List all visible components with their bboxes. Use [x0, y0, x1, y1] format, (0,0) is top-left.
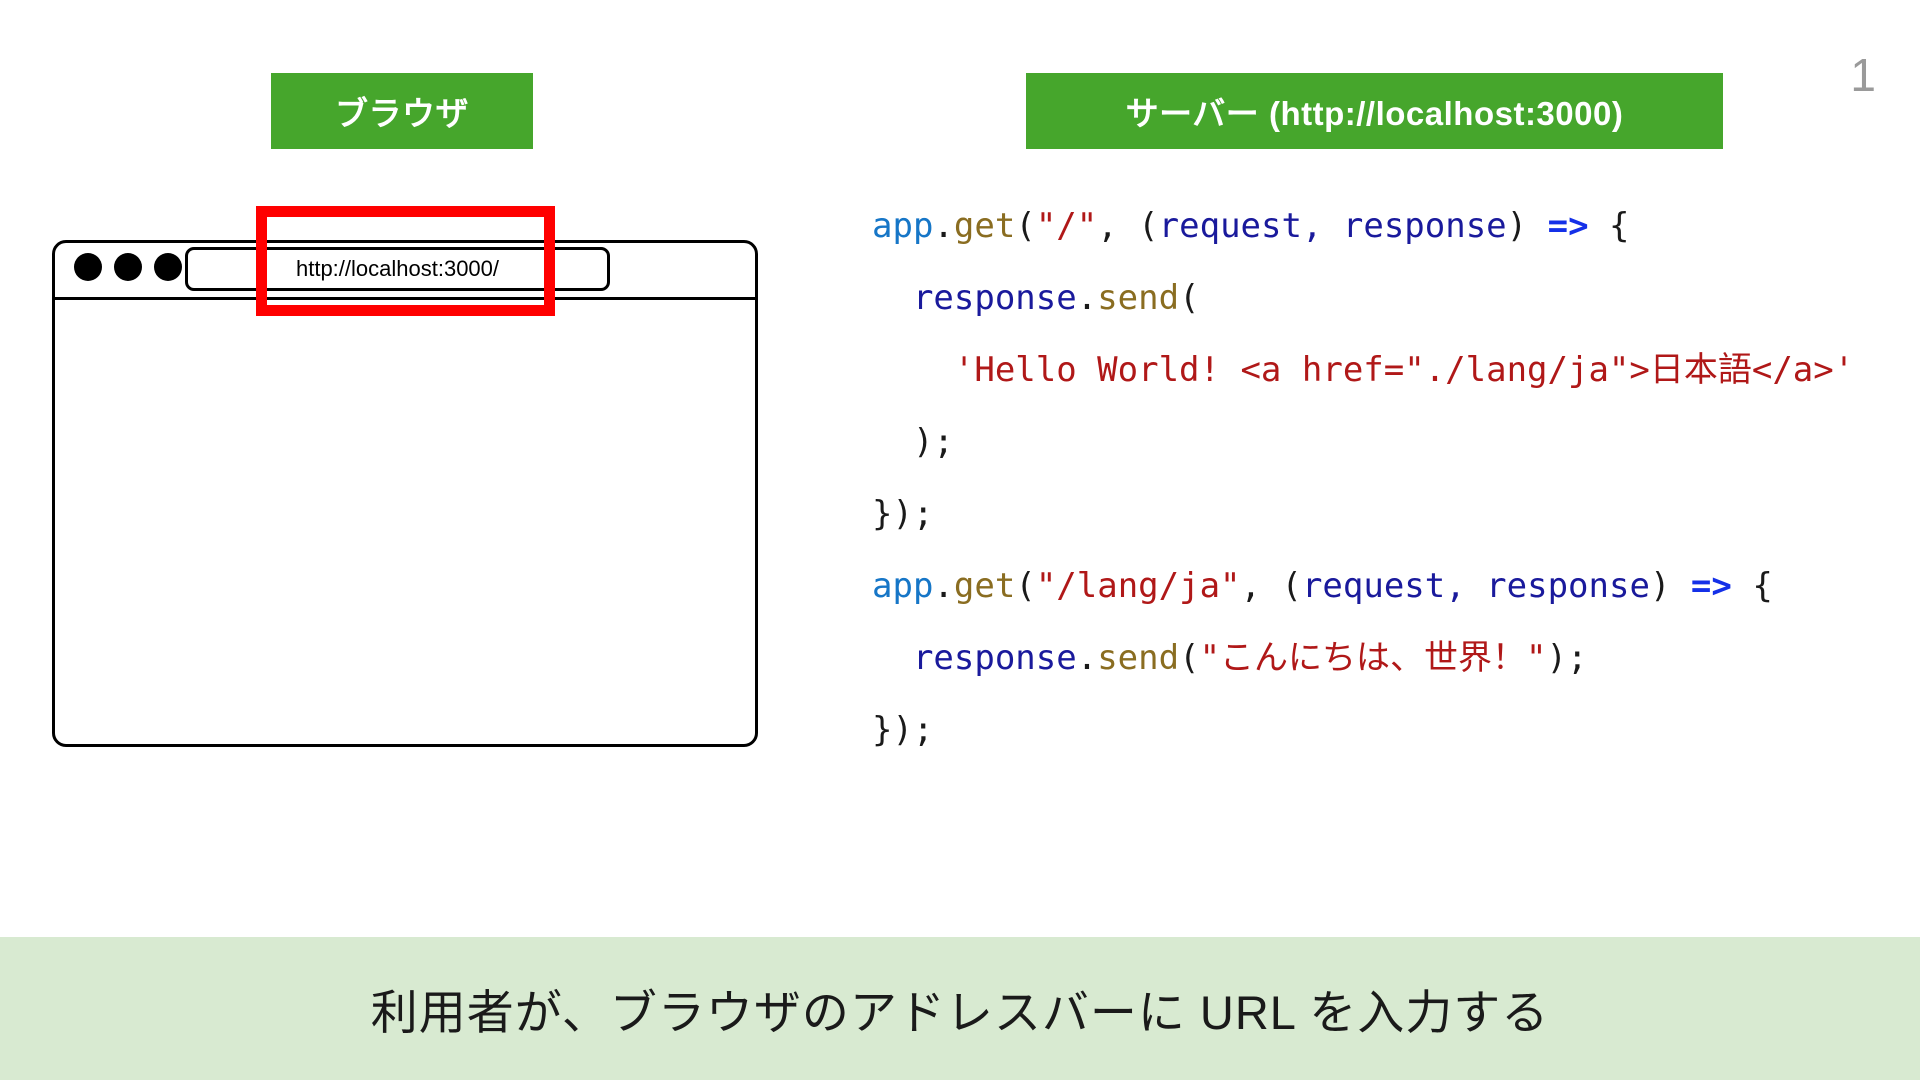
code-line: });: [872, 478, 1854, 550]
code-line: response.send(: [872, 262, 1854, 334]
code-token: {: [1589, 206, 1630, 246]
browser-column-header: ブラウザ: [271, 73, 533, 149]
code-token: .: [1077, 638, 1097, 678]
server-column-header: サーバー (http://localhost:3000): [1026, 73, 1723, 149]
code-token: (: [1179, 278, 1199, 318]
code-line: 'Hello World! <a href="./lang/ja">日本語</a…: [872, 334, 1854, 406]
server-column-header-label: サーバー (http://localhost:3000): [1126, 87, 1624, 135]
window-traffic-lights: [74, 253, 182, 281]
address-bar[interactable]: http://localhost:3000/: [185, 247, 610, 291]
code-token: "/": [1036, 206, 1097, 246]
code-token: });: [872, 710, 933, 750]
code-token: 'Hello World! <a href="./lang/ja">日本語</a…: [954, 350, 1854, 390]
code-indent: [872, 422, 913, 462]
code-line: app.get("/", (request, response) => {: [872, 190, 1854, 262]
code-token: request, response: [1159, 206, 1507, 246]
code-token: );: [913, 422, 954, 462]
code-line: app.get("/lang/ja", (request, response) …: [872, 550, 1854, 622]
code-token: , (: [1097, 206, 1158, 246]
close-circle-icon[interactable]: [74, 253, 102, 281]
browser-column-header-label: ブラウザ: [335, 87, 469, 135]
code-token: .: [933, 206, 953, 246]
code-token: =>: [1548, 206, 1589, 246]
code-token: send: [1097, 278, 1179, 318]
code-token: "/lang/ja": [1036, 566, 1241, 606]
maximize-circle-icon[interactable]: [154, 253, 182, 281]
code-token: send: [1097, 638, 1179, 678]
code-token: (: [1015, 566, 1035, 606]
code-token: get: [954, 566, 1015, 606]
code-token: response: [913, 638, 1077, 678]
minimize-circle-icon[interactable]: [114, 253, 142, 281]
code-token: get: [954, 206, 1015, 246]
code-token: =>: [1691, 566, 1732, 606]
browser-mockup: http://localhost:3000/: [52, 240, 758, 747]
page-number: 1: [1850, 52, 1876, 98]
code-token: ): [1650, 566, 1691, 606]
code-token: ): [1507, 206, 1548, 246]
code-token: .: [1077, 278, 1097, 318]
code-indent: [872, 638, 913, 678]
code-indent: [872, 278, 913, 318]
browser-toolbar-divider: [52, 297, 758, 300]
browser-window-frame: [52, 240, 758, 747]
code-token: (: [1179, 638, 1199, 678]
code-token: });: [872, 494, 933, 534]
code-token: response: [913, 278, 1077, 318]
code-token: (: [1015, 206, 1035, 246]
code-token: "こんにちは、世界！": [1200, 638, 1547, 678]
code-line: });: [872, 694, 1854, 766]
code-line: response.send("こんにちは、世界！");: [872, 622, 1854, 694]
caption-text: 利用者が、ブラウザのアドレスバーに URL を入力する: [371, 974, 1549, 1043]
caption-bar: 利用者が、ブラウザのアドレスバーに URL を入力する: [0, 937, 1920, 1080]
address-bar-value: http://localhost:3000/: [296, 256, 499, 282]
code-token: , (: [1241, 566, 1302, 606]
code-token: .: [933, 566, 953, 606]
code-line: );: [872, 406, 1854, 478]
code-token: );: [1547, 638, 1588, 678]
code-indent: [872, 350, 954, 390]
code-token: app: [872, 566, 933, 606]
code-token: app: [872, 206, 933, 246]
code-token: {: [1732, 566, 1773, 606]
code-token: request, response: [1302, 566, 1650, 606]
server-code-listing: app.get("/", (request, response) => { re…: [872, 190, 1854, 766]
